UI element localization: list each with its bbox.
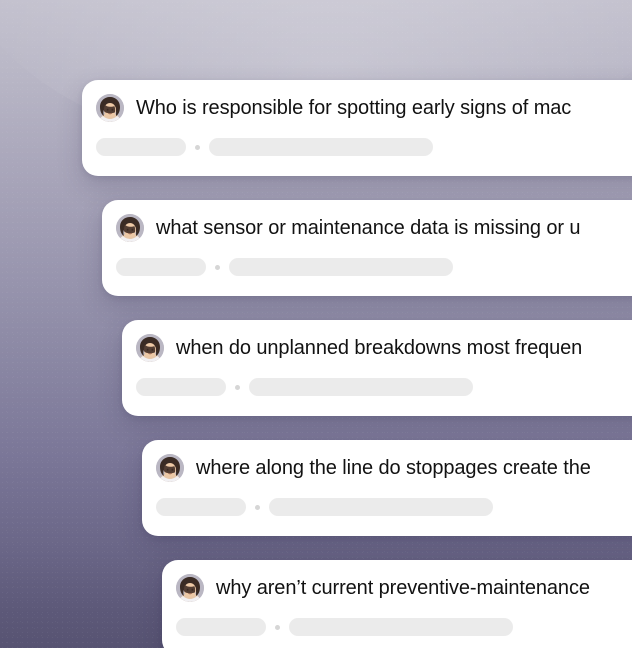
suggestion-card[interactable]: where along the line do stoppages create… xyxy=(142,440,632,536)
skeleton-pill-short xyxy=(156,498,246,516)
user-avatar-icon xyxy=(96,94,124,122)
skeleton-pill-long xyxy=(289,618,513,636)
skeleton-dot-separator xyxy=(195,145,200,150)
skeleton-pill-long xyxy=(209,138,433,156)
suggestion-card[interactable]: what sensor or maintenance data is missi… xyxy=(102,200,632,296)
skeleton-pill-long xyxy=(269,498,493,516)
suggestion-card-header: when do unplanned breakdowns most freque… xyxy=(122,320,632,376)
skeleton-pill-short xyxy=(116,258,206,276)
suggestion-card-text: when do unplanned breakdowns most freque… xyxy=(176,335,582,361)
suggestion-card-header: why aren’t current preventive-maintenanc… xyxy=(162,560,632,616)
suggestion-card-meta-skeleton xyxy=(82,134,632,160)
skeleton-pill-short xyxy=(136,378,226,396)
skeleton-dot-separator xyxy=(235,385,240,390)
skeleton-dot-separator xyxy=(215,265,220,270)
suggestion-card-text: where along the line do stoppages create… xyxy=(196,455,591,481)
suggestion-card-header: Who is responsible for spotting early si… xyxy=(82,80,632,136)
suggestion-card[interactable]: when do unplanned breakdowns most freque… xyxy=(122,320,632,416)
suggestion-card[interactable]: why aren’t current preventive-maintenanc… xyxy=(162,560,632,648)
user-avatar-icon xyxy=(156,454,184,482)
suggestion-card-text: why aren’t current preventive-maintenanc… xyxy=(216,575,590,601)
user-avatar-icon xyxy=(116,214,144,242)
skeleton-dot-separator xyxy=(275,625,280,630)
user-avatar-icon xyxy=(136,334,164,362)
suggestion-card-text: Who is responsible for spotting early si… xyxy=(136,95,571,121)
skeleton-dot-separator xyxy=(255,505,260,510)
suggestion-card-meta-skeleton xyxy=(162,614,632,640)
skeleton-pill-long xyxy=(249,378,473,396)
skeleton-pill-short xyxy=(96,138,186,156)
suggestion-card-header: what sensor or maintenance data is missi… xyxy=(102,200,632,256)
skeleton-pill-short xyxy=(176,618,266,636)
suggestion-cards-stage: Who is responsible for spotting early si… xyxy=(0,0,632,648)
user-avatar-icon xyxy=(176,574,204,602)
skeleton-pill-long xyxy=(229,258,453,276)
suggestion-card-meta-skeleton xyxy=(142,494,632,520)
suggestion-card-text: what sensor or maintenance data is missi… xyxy=(156,215,580,241)
suggestion-card-meta-skeleton xyxy=(122,374,632,400)
suggestion-card-meta-skeleton xyxy=(102,254,632,280)
suggestion-card-header: where along the line do stoppages create… xyxy=(142,440,632,496)
suggestion-card[interactable]: Who is responsible for spotting early si… xyxy=(82,80,632,176)
